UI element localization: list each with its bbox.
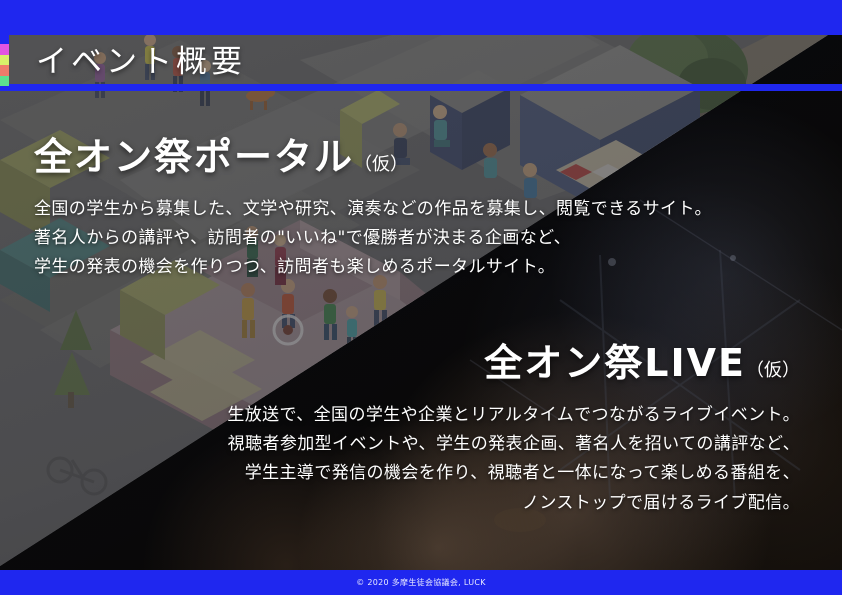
palette-swatch-3 bbox=[0, 55, 9, 65]
page-title: イベント概要 bbox=[36, 36, 246, 81]
content-block-live: 全オン祭LIVE（仮） 生放送で、全国の学生や企業とリアルタイムでつながるライブ… bbox=[227, 332, 800, 518]
page-title-underline bbox=[6, 84, 172, 91]
copyright-text: © 2020 多摩生徒会協議会, LUCK bbox=[356, 577, 486, 588]
portal-description-line: 学生の発表の機会を作りつつ、訪問者も楽しめるポータルサイト。 bbox=[34, 253, 712, 282]
palette-swatch-5 bbox=[0, 76, 9, 86]
footer-bar: © 2020 多摩生徒会協議会, LUCK bbox=[0, 570, 842, 595]
portal-heading: 全オン祭ポータル（仮） bbox=[34, 126, 712, 181]
palette-swatch-2 bbox=[0, 44, 9, 54]
live-heading-main: 全オン祭LIVE bbox=[484, 341, 746, 385]
portal-description-line: 全国の学生から募集した、文学や研究、演奏などの作品を募集し、閲覧できるサイト。 bbox=[34, 195, 712, 224]
portal-description-line: 著名人からの講評や、訪問者の"いいね"で優勝者が決まる企画など、 bbox=[34, 224, 712, 253]
header-blue-strip bbox=[0, 28, 842, 35]
palette-swatch-column bbox=[0, 34, 9, 86]
live-description-line: ノンストップで届けるライブ配信。 bbox=[227, 489, 800, 518]
live-description: 生放送で、全国の学生や企業とリアルタイムでつながるライブイベント。 視聴者参加型… bbox=[227, 401, 800, 518]
live-description-line: 学生主導で発信の機会を作り、視聴者と一体になって楽しめる番組を、 bbox=[227, 459, 800, 488]
portal-heading-main: 全オン祭ポータル bbox=[34, 135, 354, 179]
portal-heading-sub: （仮） bbox=[354, 154, 408, 175]
header-bar bbox=[0, 0, 842, 28]
slide-root: 全国オンライン学生祭 イベント概要 全オン祭ポータル（仮） 全国の学生から募集し… bbox=[0, 0, 842, 595]
live-description-line: 視聴者参加型イベントや、学生の発表企画、著名人を招いての講評など、 bbox=[227, 430, 800, 459]
portal-description: 全国の学生から募集した、文学や研究、演奏などの作品を募集し、閲覧できるサイト。 … bbox=[34, 195, 712, 283]
palette-swatch-4 bbox=[0, 65, 9, 75]
palette-swatch-1 bbox=[0, 34, 9, 44]
live-description-line: 生放送で、全国の学生や企業とリアルタイムでつながるライブイベント。 bbox=[227, 401, 800, 430]
content-block-portal: 全オン祭ポータル（仮） 全国の学生から募集した、文学や研究、演奏などの作品を募集… bbox=[34, 126, 712, 283]
live-heading-sub: （仮） bbox=[746, 360, 800, 381]
live-heading: 全オン祭LIVE（仮） bbox=[227, 332, 800, 387]
